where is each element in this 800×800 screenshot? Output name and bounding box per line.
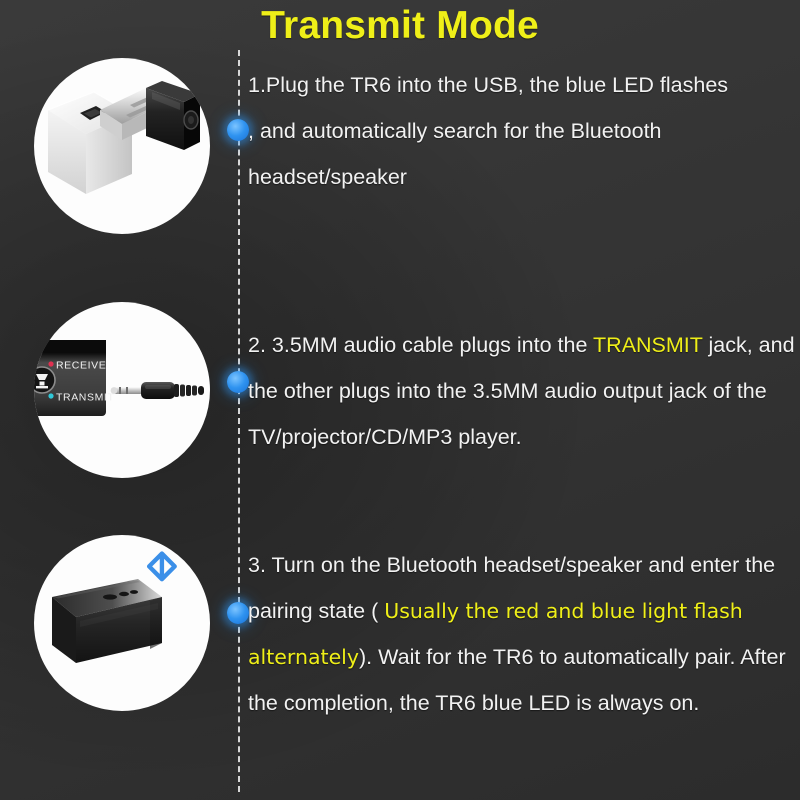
bluetooth-icon xyxy=(149,554,175,580)
timeline-node-1 xyxy=(227,119,249,141)
usb-adapter-illustration xyxy=(34,58,210,234)
mode-switch-illustration: RECEIVE TRANSMIT xyxy=(34,302,210,478)
step-1-text: 1.Plug the TR6 into the USB, the blue LE… xyxy=(248,62,796,200)
bluetooth-speaker-illustration xyxy=(34,535,210,711)
timeline-node-2 xyxy=(227,371,249,393)
usb-adapter-photo xyxy=(34,58,210,234)
step-1-line-1: 1.Plug the TR6 into the USB, the blue LE… xyxy=(248,73,728,97)
mode-switch-photo: RECEIVE TRANSMIT xyxy=(34,302,210,478)
transmit-highlight: TRANSMIT xyxy=(593,333,703,357)
svg-text:RECEIVE: RECEIVE xyxy=(56,360,106,372)
step-2-text: 2. 3.5MM audio cable plugs into the TRAN… xyxy=(248,322,796,460)
page-title: Transmit Mode xyxy=(0,2,800,50)
svg-text:TRANSMIT: TRANSMIT xyxy=(56,392,114,404)
step-1-line-2: , and automatically search for the Bluet… xyxy=(248,119,662,143)
step-2-segment-a: 2. 3.5MM audio cable plugs into the xyxy=(248,333,593,357)
bluetooth-speaker-photo xyxy=(34,535,210,711)
step-3-text: 3. Turn on the Bluetooth headset/speaker… xyxy=(248,542,796,726)
timeline-dashed-line xyxy=(238,50,240,792)
step-1-line-3: headset/speaker xyxy=(248,165,407,189)
infographic-page: Transmit Mode xyxy=(0,0,800,800)
timeline-node-3 xyxy=(227,602,249,624)
